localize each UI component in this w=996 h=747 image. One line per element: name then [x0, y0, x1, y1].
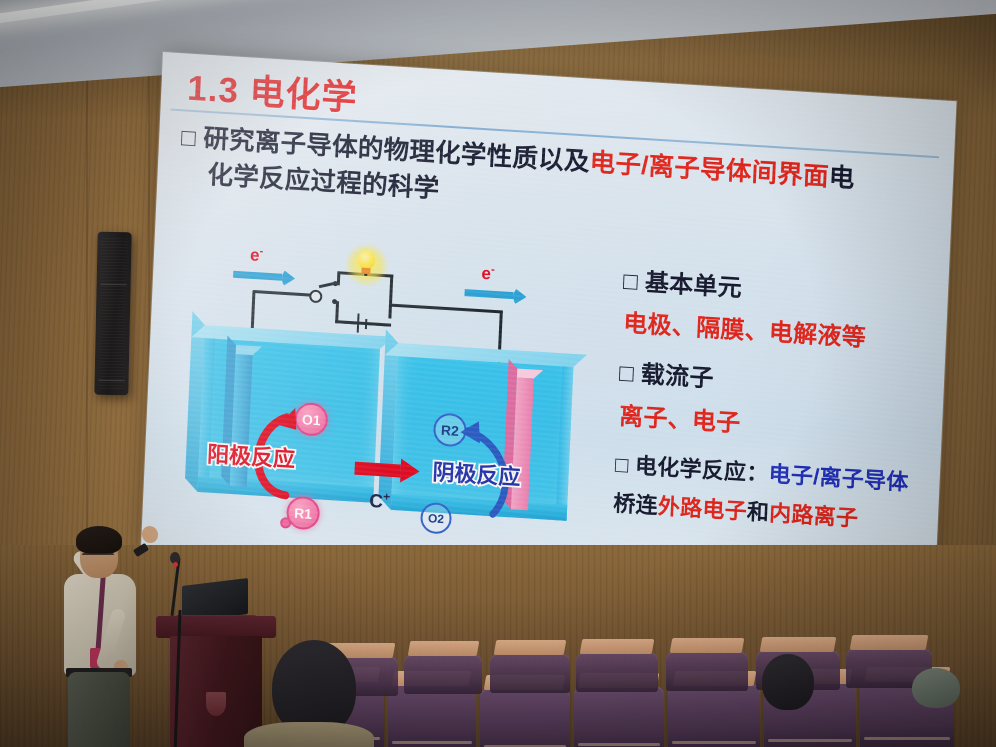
- wall-speaker-icon: [94, 232, 131, 396]
- audience-head: [762, 654, 814, 710]
- reaction-line2-prefix: 桥连: [613, 491, 659, 519]
- lightbulb-icon: [358, 249, 376, 269]
- presenter-hand: [140, 524, 161, 545]
- slide-definition: □ 研究离子导体的物理化学性质以及电子/离子导体间界面电 化学反应过程的科学: [179, 119, 941, 238]
- right-item-1-detail: 离子、电子: [619, 400, 938, 451]
- seat: [666, 651, 748, 691]
- battery-lead-right: [366, 323, 388, 326]
- species-R1-dot: [280, 517, 291, 529]
- electron-arrow-right-icon: [464, 284, 527, 306]
- bullet-square-icon: □: [623, 268, 639, 296]
- speaker-grill: [97, 238, 128, 390]
- seat: [480, 688, 570, 747]
- glasses-icon: [82, 553, 114, 563]
- reaction-item-heading: □ 电化学反应：电子/离子导体: [614, 450, 935, 498]
- ion-flow-arrow-icon: [354, 456, 419, 485]
- wire-bulb-right: [388, 274, 393, 318]
- presenter: [52, 520, 162, 747]
- wire-bulb-left: [337, 273, 341, 285]
- bullet-square-icon: □: [615, 451, 630, 477]
- electron-label-right: e-: [481, 263, 495, 284]
- right-item-0-heading: 基本单元: [644, 269, 742, 302]
- lectern-top: [156, 616, 276, 638]
- reaction-item-line2: 桥连外路电子和内路离子: [613, 490, 934, 538]
- audience-head: [912, 668, 960, 708]
- ion-label: C+: [369, 489, 391, 515]
- reaction-heading-highlight: 电子/离子导体: [768, 461, 909, 495]
- cathode-label: 阴极反应: [432, 454, 521, 491]
- projection-screen: 1.3 电化学 □ 研究离子导体的物理化学性质以及电子/离子导体间界面电 化学反…: [141, 52, 957, 601]
- reaction-line2-red1: 外路电子: [657, 494, 747, 524]
- electron-arrow-left-icon: [233, 266, 296, 288]
- reaction-line2-mid: 和: [746, 499, 769, 525]
- bullet-square-icon: □: [619, 360, 635, 388]
- lectern-crest-icon: [206, 692, 226, 716]
- photo-scene: 1.3 电化学 □ 研究离子导体的物理化学性质以及电子/离子导体间界面电 化学反…: [0, 0, 996, 747]
- presenter-hair: [76, 526, 122, 554]
- seat: [574, 686, 664, 747]
- definition-part2: 电: [828, 163, 855, 193]
- seat: [490, 653, 570, 693]
- wire-right-horizontal: [389, 303, 503, 313]
- seat: [668, 684, 760, 747]
- audience-seating: [280, 626, 996, 747]
- right-item-heading: □ 载流子: [618, 358, 939, 409]
- presenter-legs: [68, 672, 130, 747]
- microphone-led: [173, 562, 178, 567]
- electron-label-left: e-: [250, 245, 264, 266]
- seat: [404, 654, 482, 694]
- anode-label: 阳极反应: [207, 436, 296, 473]
- battery-lead-left: [341, 322, 357, 325]
- reaction-line2-red2: 内路离子: [769, 501, 859, 531]
- right-item-1-heading: 载流子: [640, 362, 714, 393]
- bullet-square-icon: □: [181, 124, 197, 152]
- switch-pivot-icon: [309, 289, 323, 303]
- seat: [576, 652, 658, 692]
- wristwatch-icon: [133, 543, 149, 557]
- right-item-0-detail: 电极、隔膜、电解液等: [623, 308, 942, 359]
- audience-shoulders: [244, 722, 374, 747]
- reaction-heading-text: 电化学反应：: [635, 453, 770, 486]
- slide-right-column: □ 基本单元 电极、隔膜、电解液等 □ 载流子 离子、电子 □ 电化学反应：电子…: [612, 266, 943, 549]
- wire-left-horizontal: [252, 290, 312, 297]
- electrochemical-cell-diagram: e- e-: [182, 239, 614, 555]
- slide-content: 1.3 电化学 □ 研究离子导体的物理化学性质以及电子/离子导体间界面电 化学反…: [141, 52, 957, 601]
- lightbulb-stem: [364, 274, 367, 276]
- right-item-heading: □ 基本单元: [623, 266, 944, 317]
